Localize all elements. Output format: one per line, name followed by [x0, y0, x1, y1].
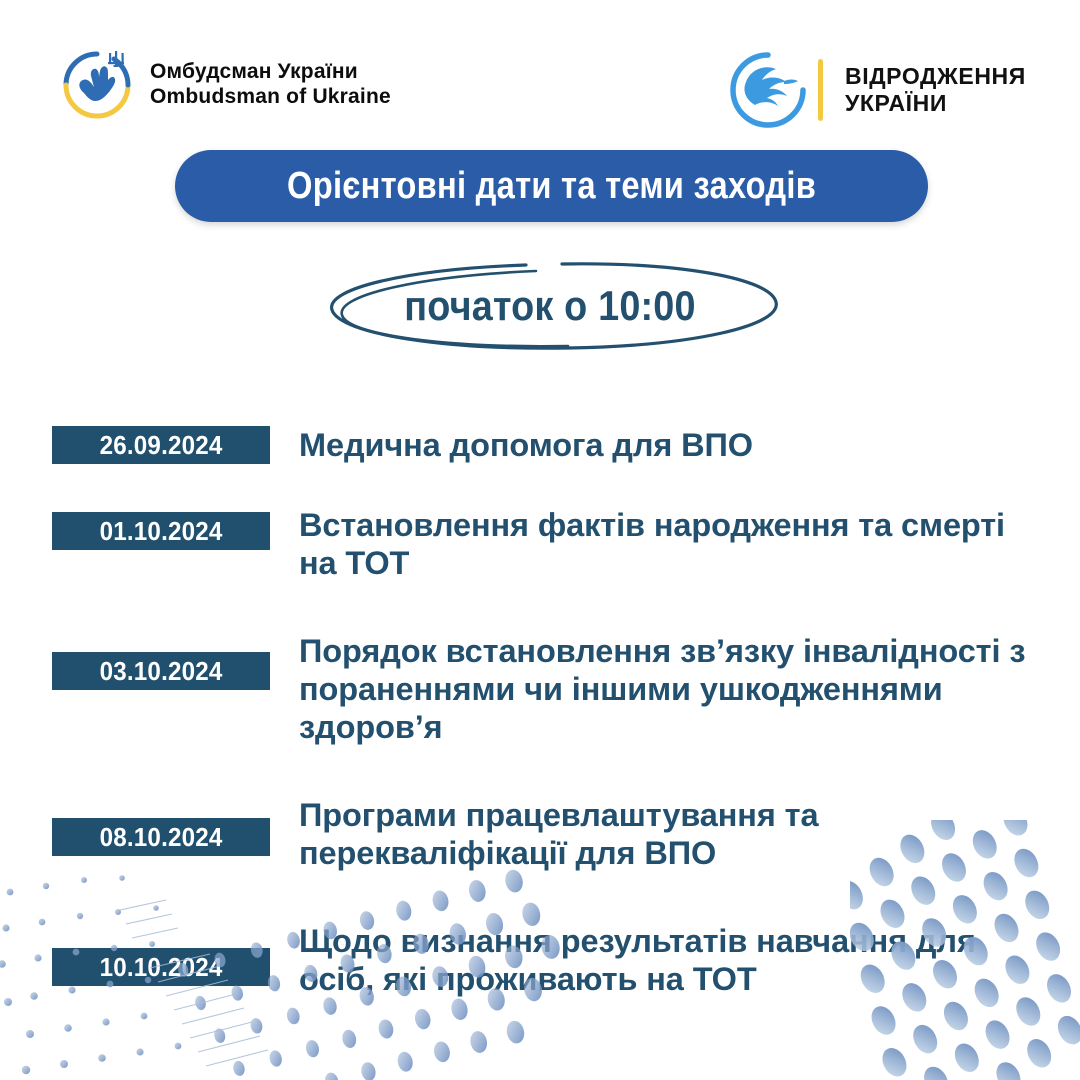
date-badge-label: 10.10.2024 — [100, 952, 223, 983]
banner-title: Орієнтовні дати та теми заходів — [287, 165, 816, 208]
ombudsman-name-en: Ombudsman of Ukraine — [150, 85, 391, 110]
date-badge: 26.09.2024 — [52, 426, 270, 464]
date-badge: 10.10.2024 — [52, 948, 270, 986]
date-badge-label: 26.09.2024 — [100, 430, 223, 461]
date-badge-label: 08.10.2024 — [100, 822, 223, 853]
partner-logo: ВІДРОДЖЕННЯ УКРАЇНИ — [726, 48, 1026, 132]
topic-text: Встановлення фактів народження та смерті… — [299, 506, 1044, 582]
partner-name-line1: ВІДРОДЖЕННЯ — [845, 63, 1026, 90]
date-badge-label: 03.10.2024 — [100, 656, 223, 687]
topic-text: Медична допомога для ВПО — [299, 426, 1044, 464]
poster-canvas: Омбудсман України Ombudsman of Ukraine В… — [0, 0, 1080, 1080]
header: Омбудсман України Ombudsman of Ukraine В… — [0, 0, 1080, 145]
start-time-highlight: початок о 10:00 — [300, 258, 800, 353]
date-badge: 03.10.2024 — [52, 652, 270, 690]
date-badge: 08.10.2024 — [52, 818, 270, 856]
ombudsman-hand-circle-icon — [58, 46, 136, 124]
date-badge-label: 01.10.2024 — [100, 516, 223, 547]
topic-text: Програми працевлаштування та перекваліфі… — [299, 796, 1054, 872]
title-banner: Орієнтовні дати та теми заходів — [175, 150, 928, 222]
partner-logo-text: ВІДРОДЖЕННЯ УКРАЇНИ — [845, 63, 1026, 116]
partner-name-line2: УКРАЇНИ — [845, 90, 1026, 117]
ombudsman-logo-text: Омбудсман України Ombudsman of Ukraine — [150, 60, 391, 110]
start-time-text: початок о 10:00 — [325, 258, 775, 353]
topic-text: Порядок встановлення зв’язку інвалідност… — [299, 632, 1054, 746]
bird-circle-icon — [726, 48, 810, 132]
ombudsman-name-uk: Омбудсман України — [150, 60, 391, 85]
date-badge: 01.10.2024 — [52, 512, 270, 550]
ombudsman-logo: Омбудсман України Ombudsman of Ukraine — [58, 46, 391, 124]
topic-text: Щодо визнання результатів навчання для о… — [299, 922, 1054, 998]
logo-divider — [818, 59, 823, 121]
